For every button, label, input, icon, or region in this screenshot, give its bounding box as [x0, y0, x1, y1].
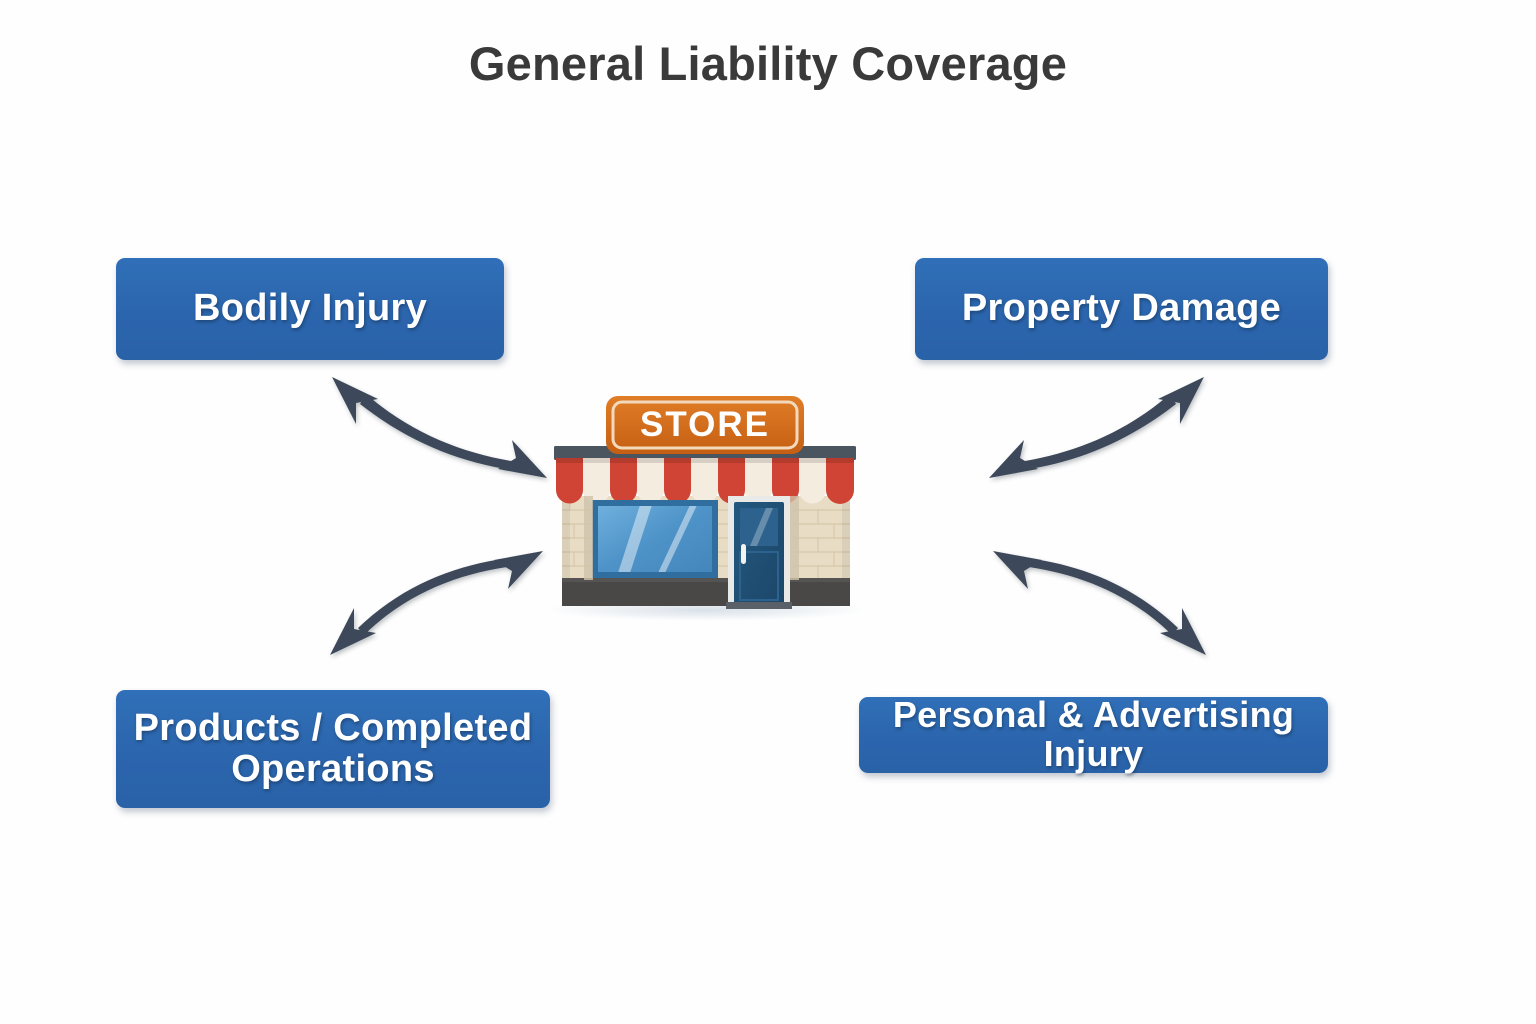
arrow-property-damage	[989, 377, 1204, 478]
store-pilaster-left	[584, 496, 593, 580]
store-foundation-highlight	[562, 578, 850, 582]
coverage-box-bodily-injury[interactable]: Bodily Injury	[116, 258, 504, 360]
arrow-bodily-injury	[332, 377, 547, 478]
page-title: General Liability Coverage	[0, 36, 1536, 91]
coverage-box-label: Bodily Injury	[193, 288, 427, 329]
store-foundation	[562, 578, 850, 606]
store-sign-text: STORE	[640, 405, 770, 444]
store-awning	[556, 458, 854, 504]
arrow-products-operations	[330, 551, 543, 655]
coverage-box-property-damage[interactable]: Property Damage	[915, 258, 1328, 360]
coverage-box-personal-advertising-injury[interactable]: Personal & Advertising Injury	[859, 697, 1328, 773]
store-door	[726, 496, 792, 609]
store-window	[592, 500, 718, 578]
store-pilaster-right	[790, 496, 799, 580]
store-sign: STORE	[606, 396, 804, 454]
coverage-box-products-completed-operations[interactable]: Products / Completed Operations	[116, 690, 550, 808]
coverage-box-label: Products / Completed Operations	[134, 708, 533, 790]
storefront-illustration: STORE	[540, 388, 870, 628]
coverage-box-label: Personal & Advertising Injury	[873, 696, 1314, 774]
arrow-personal-advertising	[993, 551, 1206, 655]
diagram-canvas: General Liability Coverage	[0, 0, 1536, 1024]
store-door-handle	[741, 544, 746, 564]
coverage-box-label: Property Damage	[962, 288, 1281, 329]
